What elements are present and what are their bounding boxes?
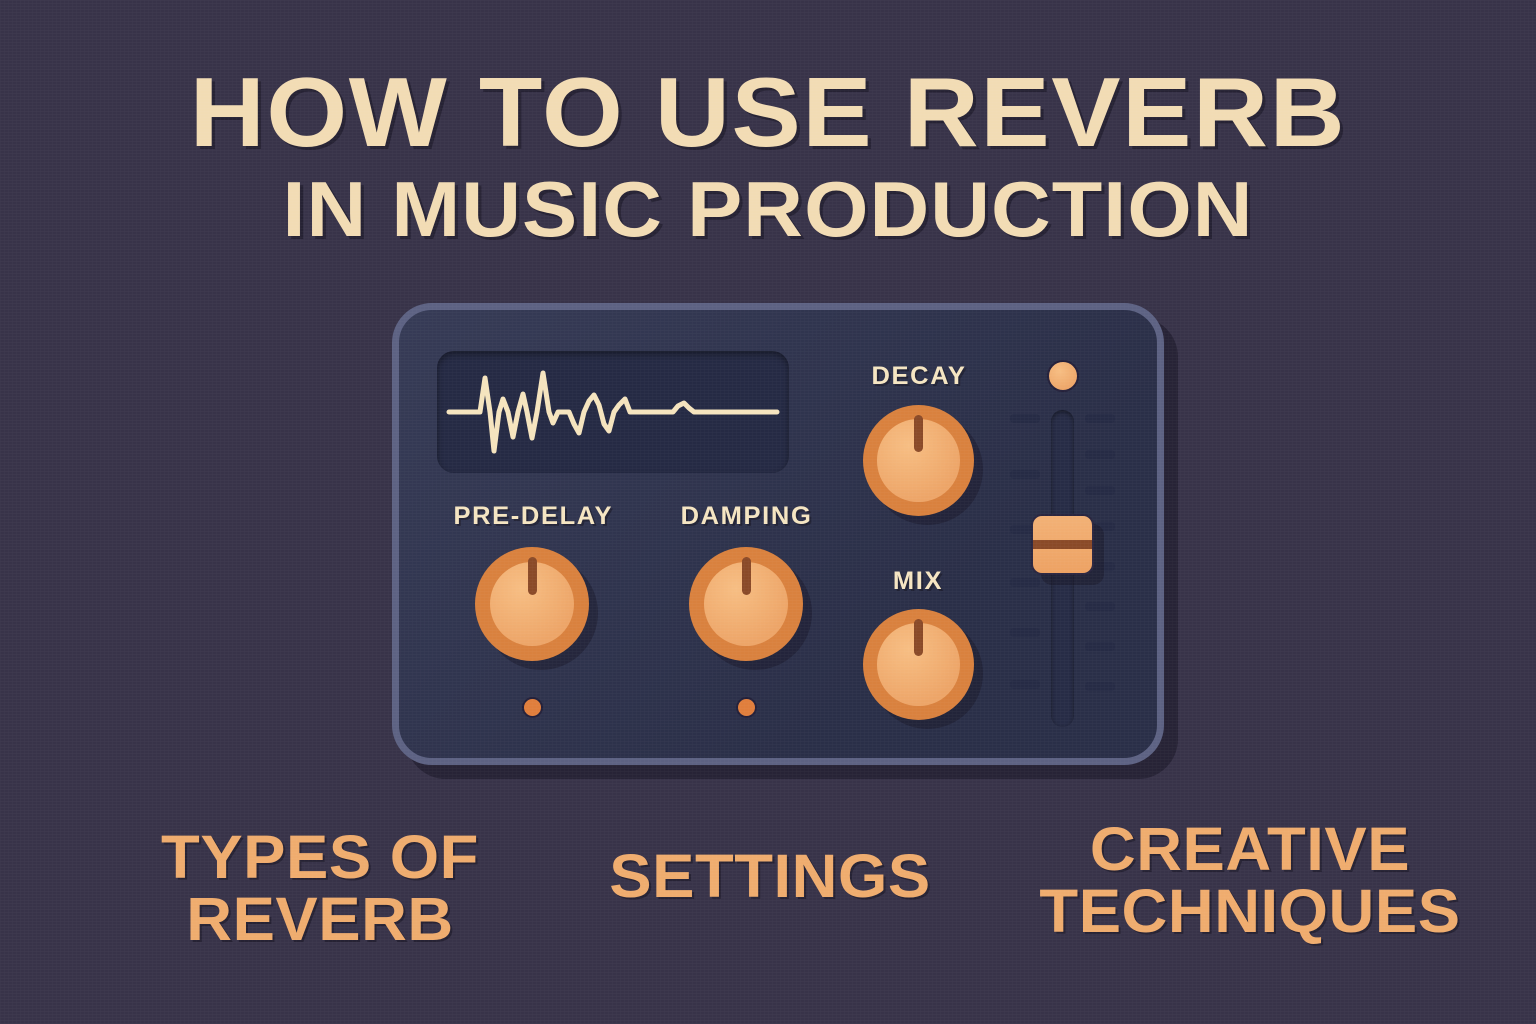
page-title: HOW TO USE REVERB IN MUSIC PRODUCTION: [0, 64, 1536, 258]
fader-thumb[interactable]: [1031, 514, 1094, 575]
fader-tick-left: [1010, 628, 1040, 637]
caption-creative-line-1: CREATIVE: [990, 818, 1510, 880]
led-indicator-damping: [736, 697, 757, 718]
fader-tick-right: [1085, 642, 1115, 651]
caption-creative-line-2: TECHNIQUES: [990, 880, 1510, 942]
waveform-path: [449, 373, 777, 451]
fader-thumb-stripe: [1033, 540, 1092, 549]
fader-tick-left: [1010, 578, 1040, 587]
knob-pointer-damping: [742, 557, 751, 595]
knob-label-damping: DAMPING: [667, 502, 825, 531]
title-line-2: IN MUSIC PRODUCTION: [0, 160, 1536, 258]
knob-label-decay: DECAY: [856, 362, 982, 391]
knob-mix[interactable]: [863, 609, 974, 720]
fader-tick-left: [1010, 680, 1040, 689]
fader-tick-left: [1010, 470, 1040, 479]
fader-tick-right: [1085, 602, 1115, 611]
waveform-display: [437, 351, 789, 473]
waveform-svg: [437, 351, 789, 473]
knob-pointer-pre-delay: [528, 557, 537, 595]
knob-damping[interactable]: [689, 547, 803, 661]
fader-tick-right: [1085, 414, 1115, 423]
knob-label-pre-delay: PRE-DELAY: [453, 502, 611, 531]
fader-tick-right: [1085, 450, 1115, 459]
caption-creative-techniques: CREATIVE TECHNIQUES: [990, 818, 1510, 942]
caption-types-of-reverb: TYPES OF REVERB: [133, 826, 507, 950]
knob-decay[interactable]: [863, 405, 974, 516]
led-indicator-pre-delay: [522, 697, 543, 718]
caption-types-line-2: REVERB: [133, 888, 507, 950]
knob-pointer-decay: [914, 415, 923, 452]
knob-pre-delay[interactable]: [475, 547, 589, 661]
knob-label-mix: MIX: [860, 567, 976, 596]
caption-settings-line-1: SETTINGS: [583, 845, 957, 907]
knob-pointer-mix: [914, 619, 923, 656]
fader-tick-right: [1085, 682, 1115, 691]
title-line-1: HOW TO USE REVERB: [0, 64, 1536, 160]
caption-settings: SETTINGS: [583, 845, 957, 907]
caption-types-line-1: TYPES OF: [133, 826, 507, 888]
led-indicator-fader: [1047, 360, 1079, 392]
fader-tick-left: [1010, 414, 1040, 423]
reverb-device-panel: PRE-DELAY DAMPING DECAY MIX: [392, 303, 1164, 765]
fader-tick-right: [1085, 486, 1115, 495]
